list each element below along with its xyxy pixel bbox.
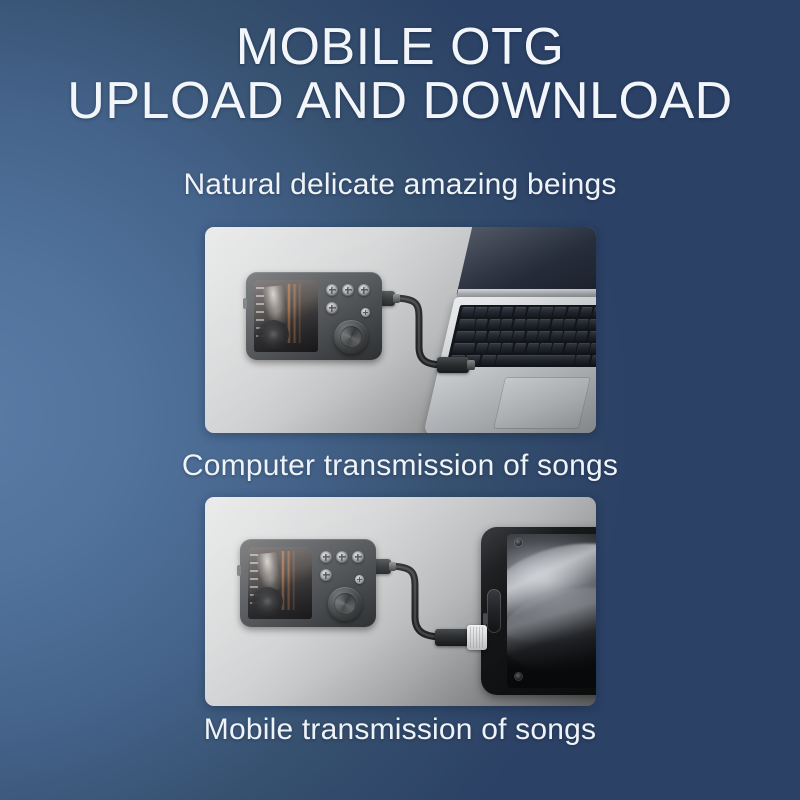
player-button-1[interactable] [326, 284, 338, 296]
player-side-button[interactable] [243, 298, 247, 309]
player-screen [248, 547, 312, 619]
photo-panel-mobile [205, 497, 596, 706]
headline-block: MOBILE OTG UPLOAD AND DOWNLOAD [0, 20, 800, 128]
cable-plug-phone [435, 629, 469, 646]
player-button-2[interactable] [342, 284, 354, 296]
player-jog-dial[interactable] [334, 320, 368, 354]
portable-mp3-player [246, 272, 382, 360]
headline-line-1: MOBILE OTG [0, 20, 800, 74]
otg-adapter [467, 625, 487, 650]
cable-plug-laptop-tip [467, 360, 475, 370]
player-button-1[interactable] [320, 551, 332, 563]
photo-panel-computer [205, 227, 596, 433]
caption-computer: Computer transmission of songs [0, 449, 800, 483]
portable-mp3-player [240, 539, 376, 627]
product-marketing-image: MOBILE OTG UPLOAD AND DOWNLOAD Natural d… [0, 0, 800, 800]
cable-plug-laptop [437, 357, 469, 373]
player-jog-dial[interactable] [328, 587, 362, 621]
player-button-2[interactable] [336, 551, 348, 563]
cable-plug-tip [393, 294, 400, 303]
player-screen [254, 280, 318, 352]
player-button-4[interactable] [326, 302, 338, 314]
player-button-4[interactable] [320, 569, 332, 581]
player-power-button[interactable] [361, 308, 370, 317]
player-button-3[interactable] [352, 551, 364, 563]
player-side-button[interactable] [237, 565, 241, 576]
player-power-button[interactable] [355, 575, 364, 584]
cable-plug-tip [389, 562, 396, 571]
caption-mobile: Mobile transmission of songs [0, 713, 800, 747]
player-button-3[interactable] [358, 284, 370, 296]
subtitle: Natural delicate amazing beings [0, 168, 800, 202]
headline-line-2: UPLOAD AND DOWNLOAD [0, 74, 800, 128]
